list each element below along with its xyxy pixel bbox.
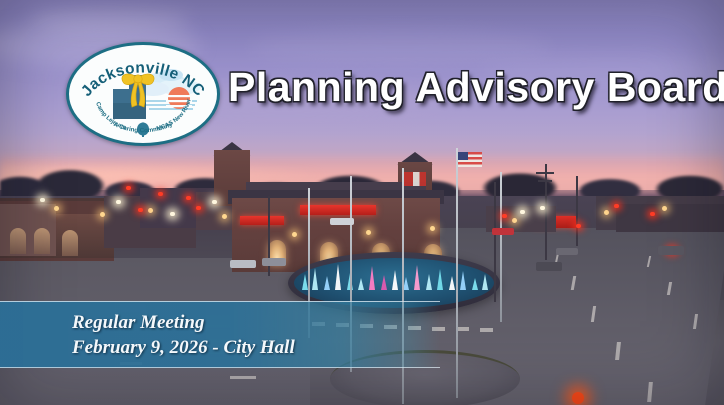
fountain-jet: [312, 268, 318, 290]
fountain-jets: [300, 256, 490, 290]
street-lamp: [100, 212, 105, 217]
vehicle-taillight: [502, 214, 507, 218]
street-lamp: [366, 230, 371, 235]
caption-line-2: February 9, 2026 - City Hall: [72, 335, 295, 360]
vehicle-headlight: [40, 198, 45, 202]
utility-pole: [545, 164, 547, 260]
vehicle-headlight: [540, 206, 545, 210]
vehicle-taillight: [614, 204, 619, 208]
logo-oval-badge: Jacksonville NC Camp Lejeune MCAS New Ri…: [66, 42, 220, 146]
city-hall-marquee-sign: [300, 205, 376, 215]
fountain-jet: [381, 275, 387, 290]
moving-car: [658, 246, 684, 255]
vehicle-headlight: [520, 210, 525, 214]
street-lamp: [222, 214, 227, 219]
utility-pole: [494, 182, 496, 302]
caption-text-block: Regular Meeting February 9, 2026 - City …: [72, 310, 295, 360]
fountain-jet: [358, 278, 364, 290]
fountain-jet: [437, 269, 443, 290]
street-lamp: [54, 206, 59, 211]
street-lamp: [604, 210, 609, 215]
shop-arch-window: [62, 230, 78, 256]
north-carolina-flag: [404, 172, 426, 186]
fountain-jet: [482, 274, 488, 290]
shop-arch-window: [10, 228, 26, 254]
moving-car: [556, 248, 578, 255]
shop-arch-window: [34, 228, 50, 254]
cloud-wisp: [250, 30, 550, 66]
vehicle-taillight: [138, 208, 143, 212]
lower-third-caption-bar: Regular Meeting February 9, 2026 - City …: [0, 301, 440, 368]
parked-car: [262, 258, 286, 266]
city-logo: Jacksonville NC Camp Lejeune MCAS New Ri…: [66, 42, 214, 140]
secondary-marquee-sign: [240, 216, 284, 225]
page-title: Planning Advisory Board: [228, 64, 724, 111]
jacksonville-nc-seal-icon: Jacksonville NC Camp Lejeune MCAS New Ri…: [69, 45, 217, 143]
utility-pole: [576, 176, 578, 246]
vehicle-taillight: [186, 196, 191, 200]
fountain-jet: [369, 266, 375, 290]
utility-crossarm: [538, 180, 552, 182]
moving-car: [536, 262, 562, 271]
crosswalk-dash: [480, 328, 493, 332]
vehicle-taillight: [650, 212, 655, 216]
street-lamp: [430, 226, 435, 231]
flagpole: [500, 172, 502, 322]
vehicle-taillight: [158, 192, 163, 196]
fountain-jet: [335, 264, 341, 290]
fountain-jet: [472, 278, 478, 290]
parked-car: [62, 288, 90, 297]
fountain-jet: [449, 276, 455, 290]
moving-car: [330, 218, 354, 225]
fountain-jet: [414, 265, 420, 290]
fountain-jet: [426, 274, 432, 290]
street-lamp: [292, 232, 297, 237]
fountain-jet: [324, 276, 330, 290]
traffic-signal-red: [572, 392, 584, 404]
vehicle-taillight: [126, 186, 131, 190]
lane-marking: [230, 376, 256, 379]
vehicle-taillight: [196, 206, 201, 210]
right-distant-building: [616, 204, 724, 232]
vehicle-taillight: [576, 224, 581, 228]
cloud-wisp: [30, 8, 190, 34]
fountain-jet: [460, 271, 466, 290]
caption-line-1: Regular Meeting: [72, 310, 295, 335]
fountain-jet: [392, 270, 398, 290]
street-lamp: [512, 218, 517, 223]
street-lamp: [662, 206, 667, 211]
us-flag: [458, 152, 482, 167]
street-lamp: [148, 208, 153, 213]
vehicle-headlight: [116, 200, 121, 204]
moving-car: [492, 228, 514, 235]
flagpole: [402, 168, 404, 404]
vehicle-headlight: [170, 212, 175, 216]
flagpole: [456, 148, 458, 398]
vehicle-headlight: [212, 200, 217, 204]
utility-crossarm: [536, 172, 554, 174]
parked-car: [230, 260, 256, 268]
broadcast-video-frame: Jacksonville NC Camp Lejeune MCAS New Ri…: [0, 0, 724, 405]
